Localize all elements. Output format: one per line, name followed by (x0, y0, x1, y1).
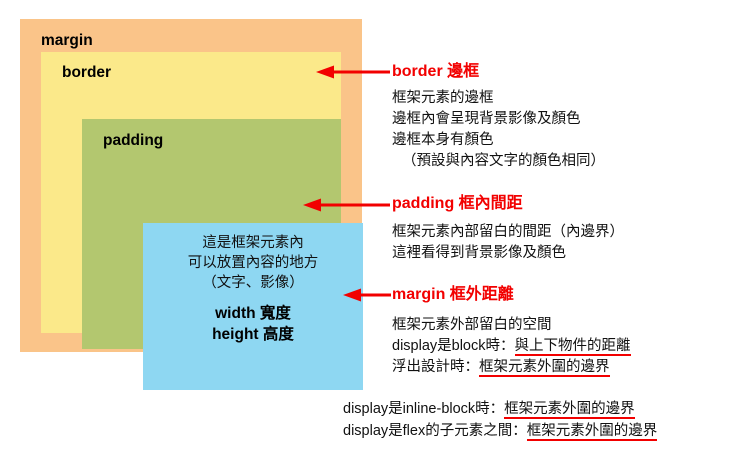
margin-float-prefix: 浮出設計時： (392, 359, 479, 375)
border-label: border (62, 65, 111, 81)
margin-label: margin (41, 33, 93, 49)
margin-block-emphasis: 與上下物件的距離 (515, 338, 631, 356)
padding-label: padding (103, 133, 163, 149)
content-height-label: height 高度 (212, 324, 294, 345)
padding-annotation-heading: padding 框內間距 (392, 196, 523, 212)
footer-line-1: display是inline-block時：框架元素外圍的邊界 (343, 398, 657, 420)
footer-inline-block-emphasis: 框架元素外圍的邊界 (504, 401, 635, 419)
border-annotation-heading: border 邊框 (392, 64, 479, 80)
margin-block-prefix: display是block時： (392, 338, 515, 354)
footer-flex-emphasis: 框架元素外圍的邊界 (527, 423, 658, 441)
padding-annotation-line-2: 這裡看得到背景影像及顏色 (392, 243, 624, 264)
footer-notes: display是inline-block時：框架元素外圍的邊界 display是… (343, 398, 657, 442)
content-width-label: width 寬度 (215, 303, 291, 324)
padding-pointer-arrow (303, 198, 390, 212)
box-model-diagram: margin border padding 這是框架元素內 可以放置內容的地方 … (20, 19, 362, 352)
border-annotation-line-2: 邊框內會呈現背景影像及顏色 (392, 109, 605, 130)
padding-annotation-body: 框架元素內部留白的間距（內邊界） 這裡看得到背景影像及顏色 (392, 222, 624, 264)
content-layer: 這是框架元素內 可以放置內容的地方 （文字、影像） width 寬度 heigh… (143, 223, 363, 390)
margin-float-emphasis: 框架元素外圍的邊界 (479, 359, 610, 377)
footer-flex-prefix: display是flex的子元素之間： (343, 423, 527, 439)
content-text-line-1: 這是框架元素內 (202, 233, 304, 253)
margin-annotation-heading: margin 框外距離 (392, 287, 514, 303)
border-annotation-line-3: 邊框本身有顏色 (392, 130, 605, 151)
border-annotation-body: 框架元素的邊框 邊框內會呈現背景影像及顏色 邊框本身有顏色 （預設與內容文字的顏… (392, 88, 605, 172)
border-pointer-arrow (316, 65, 390, 79)
footer-inline-block-prefix: display是inline-block時： (343, 401, 504, 417)
border-annotation-line-1: 框架元素的邊框 (392, 88, 605, 109)
padding-layer: padding 這是框架元素內 可以放置內容的地方 （文字、影像） width … (82, 119, 341, 349)
content-text-line-3: （文字、影像） (202, 273, 304, 293)
footer-line-2: display是flex的子元素之間：框架元素外圍的邊界 (343, 420, 657, 442)
margin-annotation-body: 框架元素外部留白的空間 display是block時：與上下物件的距離 浮出設計… (392, 315, 631, 378)
margin-pointer-arrow (343, 288, 391, 302)
margin-layer: margin border padding 這是框架元素內 可以放置內容的地方 … (20, 19, 362, 352)
margin-annotation-line-1: 框架元素外部留白的空間 (392, 315, 631, 336)
padding-annotation-line-1: 框架元素內部留白的間距（內邊界） (392, 222, 624, 243)
margin-annotation-line-3: 浮出設計時：框架元素外圍的邊界 (392, 357, 631, 378)
border-layer: border padding 這是框架元素內 可以放置內容的地方 （文字、影像）… (41, 52, 341, 333)
border-annotation-line-4: （預設與內容文字的顏色相同） (392, 151, 605, 172)
margin-annotation-line-2: display是block時：與上下物件的距離 (392, 336, 631, 357)
content-text-line-2: 可以放置內容的地方 (188, 253, 319, 273)
